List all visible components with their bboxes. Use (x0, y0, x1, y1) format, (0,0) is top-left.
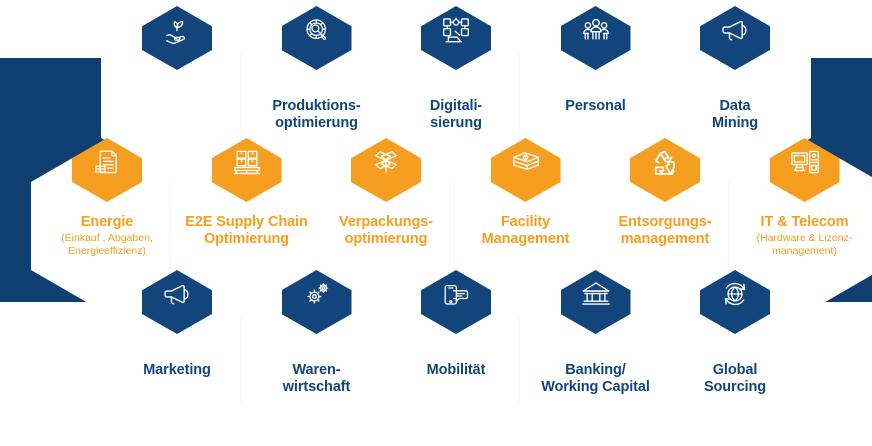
hex-caption: Mobilität (384, 362, 528, 379)
hex-caption: Waren- wirtschaft (245, 362, 389, 395)
hex-label: Facility Management (454, 214, 598, 247)
hex-caption: Global Sourcing (663, 362, 807, 395)
hex-sublabel: (Hardware & Lizenz- management) (733, 232, 872, 258)
hex-caption: Produktions- optimierung (245, 98, 389, 131)
megaphone-icon (700, 0, 770, 70)
hex-label: Banking/ Working Capital (524, 362, 668, 395)
hex-caption: Marketing (105, 362, 249, 379)
hex-label: IT & Telecom (733, 214, 872, 231)
laptop-network-icon (421, 0, 491, 70)
gear-magnifier-icon (282, 0, 352, 70)
hex-label: E2E Supply Chain Optimierung (175, 214, 319, 247)
hex-label: Verpackungs- optimierung (314, 214, 458, 247)
hex-label: Personal (524, 98, 668, 115)
hex-caption: Facility Management (454, 214, 598, 247)
hex-label: Marketing (105, 362, 249, 379)
hex-caption: Verpackungs- optimierung (314, 214, 458, 247)
hex-label: Produktions- optimierung (245, 98, 389, 131)
people-group-icon (561, 0, 631, 70)
hex-label: Waren- wirtschaft (245, 362, 389, 395)
hex-label: Entsorgungs- management (593, 214, 737, 247)
hex-label: Global Sourcing (663, 362, 807, 395)
hex-caption: E2E Supply Chain Optimierung (175, 214, 319, 247)
hex-label: Energie (35, 214, 179, 231)
hex-label: Digitali- sierung (384, 98, 528, 131)
hex-caption: Data Mining (663, 98, 807, 131)
hex-caption: Digitali- sierung (384, 98, 528, 131)
hex-label: Mobilität (384, 362, 528, 379)
hex-caption: Banking/ Working Capital (524, 362, 668, 395)
hex-caption: Entsorgungs- management (593, 214, 737, 247)
infographic-canvas: Produktions- optimierung Digitali- sieru… (0, 0, 872, 408)
hex-caption: Energie(Einkauf , Abgaben, Energieeffizi… (35, 214, 179, 258)
hex-caption: IT & Telecom(Hardware & Lizenz- manageme… (733, 214, 872, 258)
hex-caption: Personal (524, 98, 668, 115)
hex-sublabel: (Einkauf , Abgaben, Energieeffizienz) (35, 232, 179, 258)
hex-label: Data Mining (663, 98, 807, 131)
hand-plant-icon (142, 0, 212, 70)
